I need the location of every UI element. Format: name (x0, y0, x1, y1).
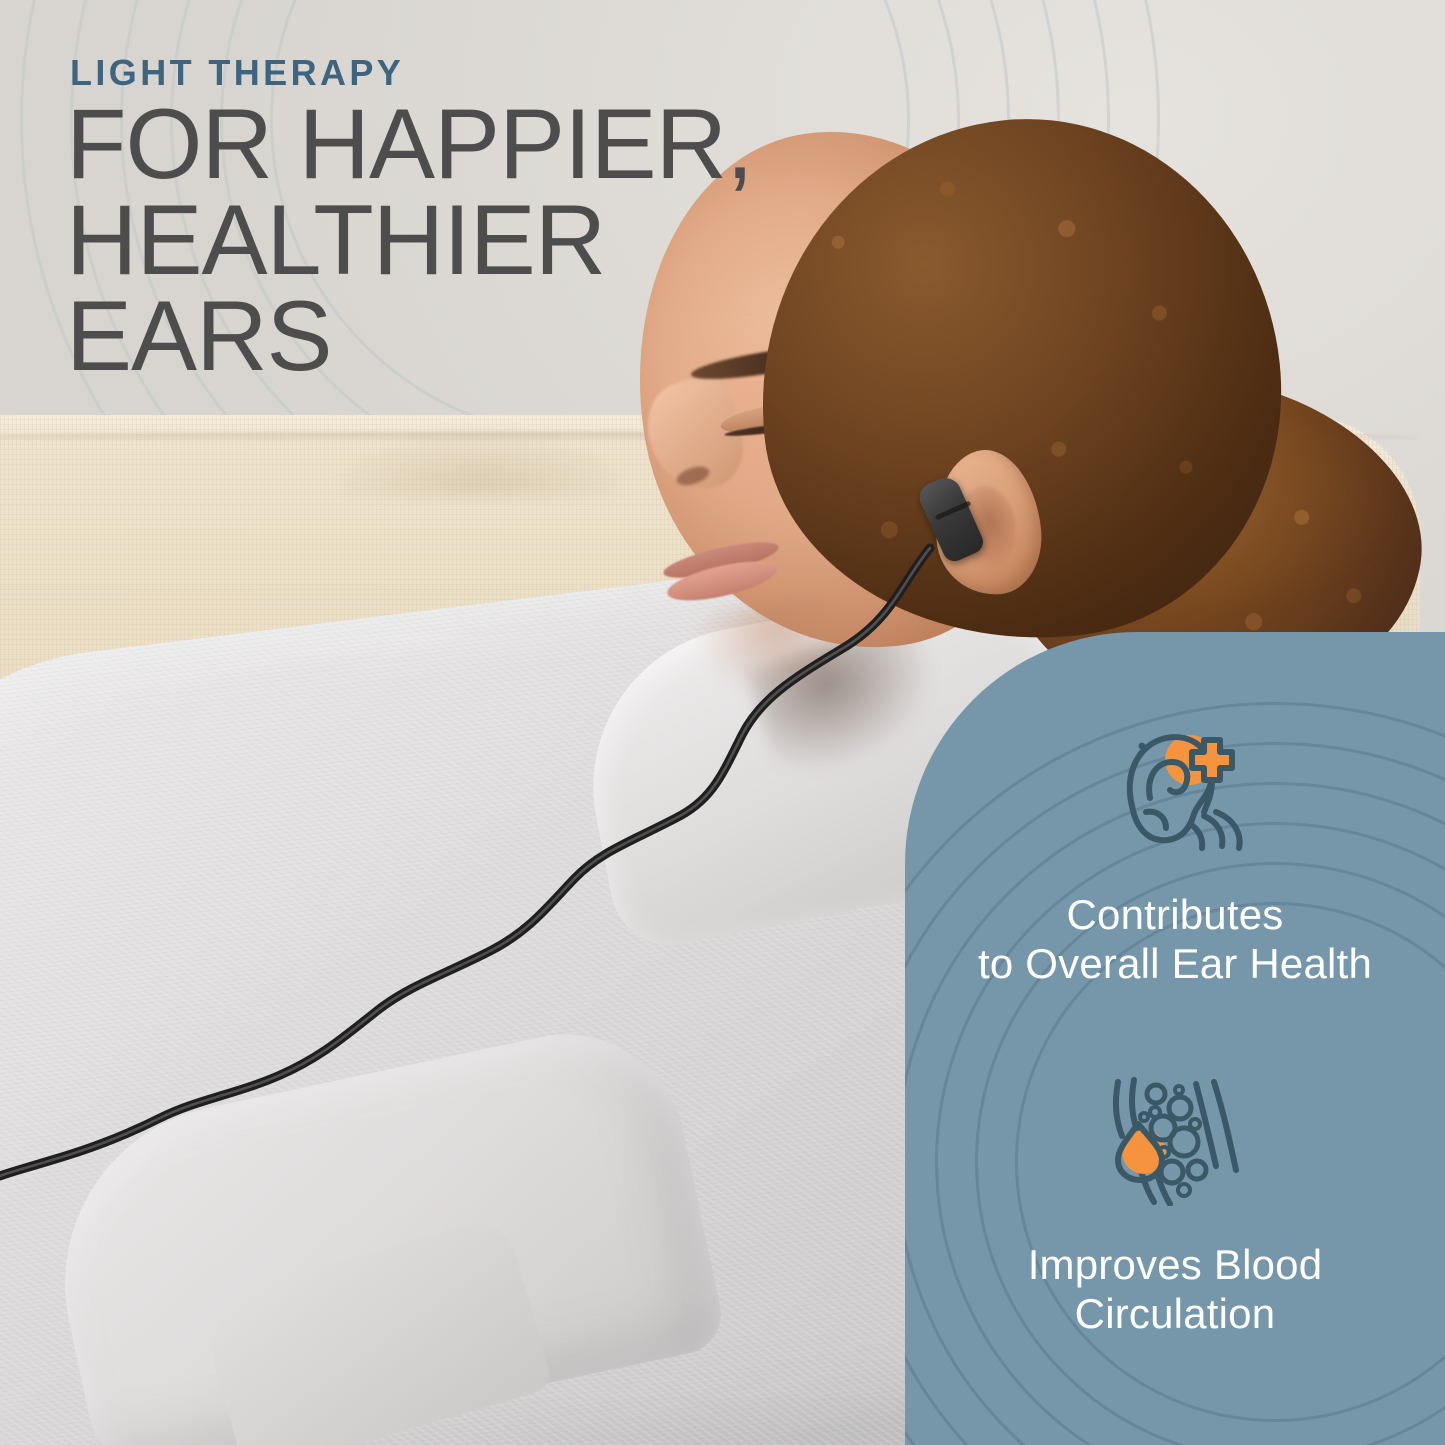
feature-item-blood-circulation: Improves Blood Circulation (905, 1070, 1445, 1338)
page-title: FOR HAPPIER, HEALTHIER EARS (66, 96, 786, 384)
product-marketing-poster: LIGHT THERAPY FOR HAPPIER, HEALTHIER EAR… (0, 0, 1445, 1445)
feature-label: Contributes to Overall Ear Health (978, 890, 1372, 988)
feature-label: Improves Blood Circulation (1028, 1240, 1323, 1338)
feature-list: Contributes to Overall Ear Health (905, 632, 1445, 1445)
feature-item-ear-health: Contributes to Overall Ear Health (905, 720, 1445, 988)
blood-circulation-icon (1100, 1070, 1250, 1206)
ear-health-icon (1100, 720, 1250, 856)
feature-panel: Contributes to Overall Ear Health (905, 632, 1445, 1445)
